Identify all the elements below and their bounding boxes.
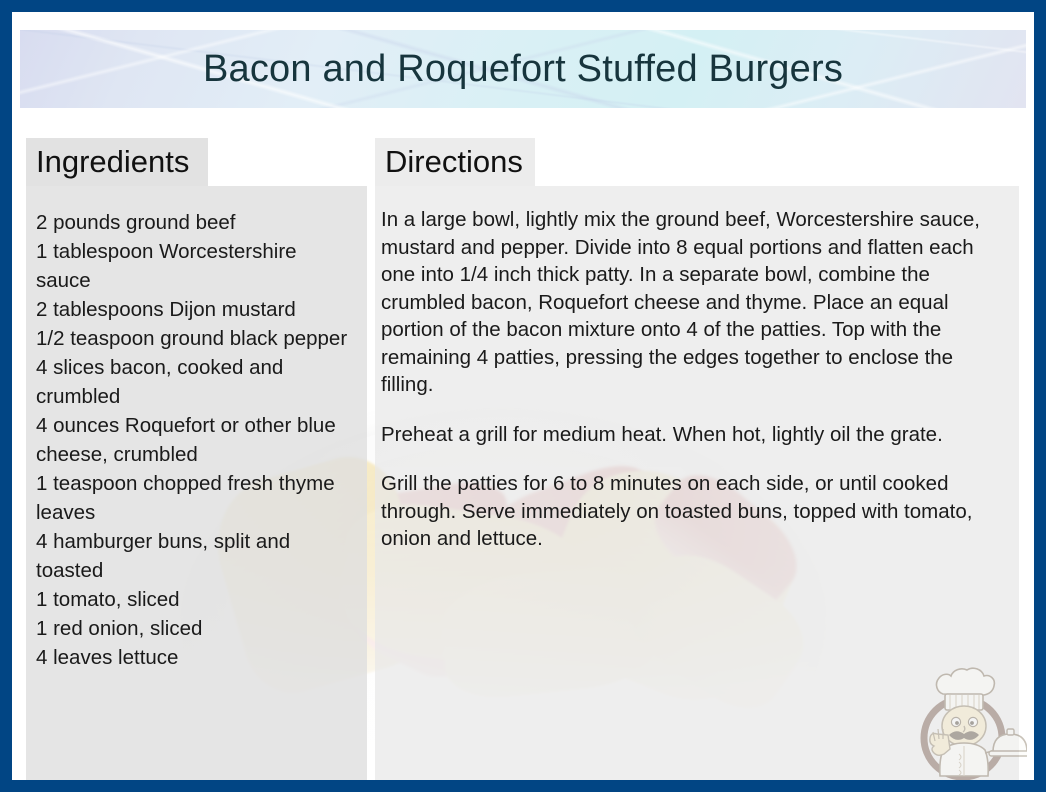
ingredients-list: 2 pounds ground beef 1 tablespoon Worces… <box>36 208 353 672</box>
recipe-slide: Bacon and Roquefort Stuffed Burgers Ingr… <box>0 0 1046 792</box>
ingredients-heading: Ingredients <box>26 138 208 186</box>
list-item: 4 leaves lettuce <box>36 643 353 672</box>
list-item: 1 teaspoon chopped fresh thyme leaves <box>36 469 353 527</box>
title-banner: Bacon and Roquefort Stuffed Burgers <box>20 30 1026 108</box>
directions-paragraph: Grill the patties for 6 to 8 minutes on … <box>381 470 1005 553</box>
ingredients-panel: 2 pounds ground beef 1 tablespoon Worces… <box>26 186 367 780</box>
list-item: 4 ounces Roquefort or other blue cheese,… <box>36 411 353 469</box>
directions-heading: Directions <box>375 138 535 186</box>
list-item: 1 tablespoon Worcestershire sauce <box>36 237 353 295</box>
list-item: 4 hamburger buns, split and toasted <box>36 527 353 585</box>
list-item: 4 slices bacon, cooked and crumbled <box>36 353 353 411</box>
list-item: 2 tablespoons Dijon mustard <box>36 295 353 324</box>
chef-logo <box>907 650 1027 782</box>
list-item: 1/2 teaspoon ground black pepper <box>36 324 353 353</box>
chef-with-toque-and-cloche-icon <box>907 650 1027 782</box>
page-title: Bacon and Roquefort Stuffed Burgers <box>20 30 1026 108</box>
directions-paragraph: Preheat a grill for medium heat. When ho… <box>381 421 1005 449</box>
list-item: 2 pounds ground beef <box>36 208 353 237</box>
directions-paragraph: In a large bowl, lightly mix the ground … <box>381 206 1005 399</box>
list-item: 1 red onion, sliced <box>36 614 353 643</box>
list-item: 1 tomato, sliced <box>36 585 353 614</box>
